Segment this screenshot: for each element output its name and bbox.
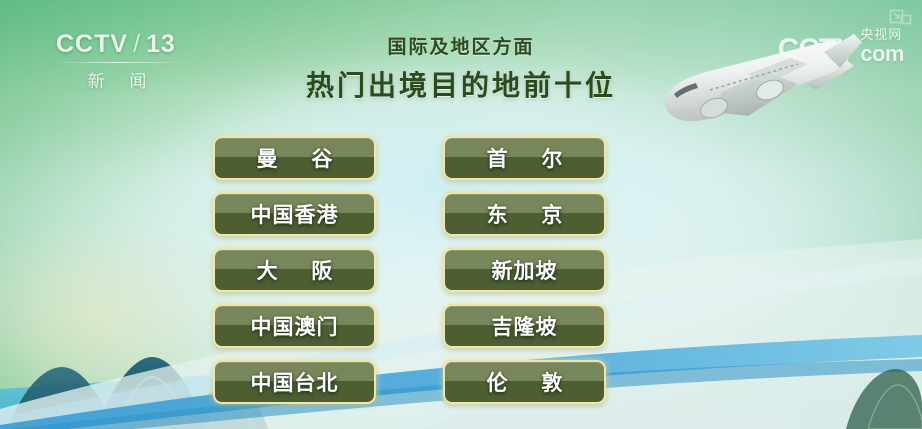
destination-pill[interactable]: 东 京 <box>443 192 606 236</box>
destination-label: 伦 敦 <box>473 367 577 397</box>
cctv-wordmark: CCTV <box>56 30 128 59</box>
destination-label: 首 尔 <box>473 143 577 173</box>
destination-pill[interactable]: 中国台北 <box>213 360 376 404</box>
destination-list: 曼 谷 首 尔 中国香港 东 京 大 阪 新加坡 中国澳门 吉隆坡 中国台北 伦… <box>213 136 613 404</box>
channel-subtitle: 新 闻 <box>56 67 178 92</box>
channel-number: 13 <box>146 30 176 59</box>
destination-pill[interactable]: 伦 敦 <box>443 360 606 404</box>
destination-label: 大 阪 <box>243 255 347 285</box>
destination-pill[interactable]: 曼 谷 <box>213 136 376 180</box>
destination-pill[interactable]: 新加坡 <box>443 248 606 292</box>
destination-label: 中国香港 <box>251 199 339 229</box>
destination-label: 中国台北 <box>251 367 339 397</box>
cctv-channel-logo: CCTV / 13 新 闻 <box>56 30 186 92</box>
destination-label: 吉隆坡 <box>492 311 558 341</box>
restore-window-icon[interactable] <box>888 6 914 28</box>
destination-label: 东 京 <box>473 199 577 229</box>
destination-pill[interactable]: 首 尔 <box>443 136 606 180</box>
logo-divider <box>58 62 180 63</box>
logo-separator: / <box>132 30 142 59</box>
airplane-icon <box>648 28 868 138</box>
destination-label: 中国澳门 <box>251 311 339 341</box>
destination-pill[interactable]: 中国澳门 <box>213 304 376 348</box>
destination-pill[interactable]: 大 阪 <box>213 248 376 292</box>
destination-pill[interactable]: 中国香港 <box>213 192 376 236</box>
destination-pill[interactable]: 吉隆坡 <box>443 304 606 348</box>
destination-label: 新加坡 <box>492 255 558 285</box>
destination-label: 曼 谷 <box>243 143 347 173</box>
broadcast-screen: CCTV / 13 新 闻 CCTV 央视网 com 国际及地区方面 热门出境目… <box>0 0 922 429</box>
